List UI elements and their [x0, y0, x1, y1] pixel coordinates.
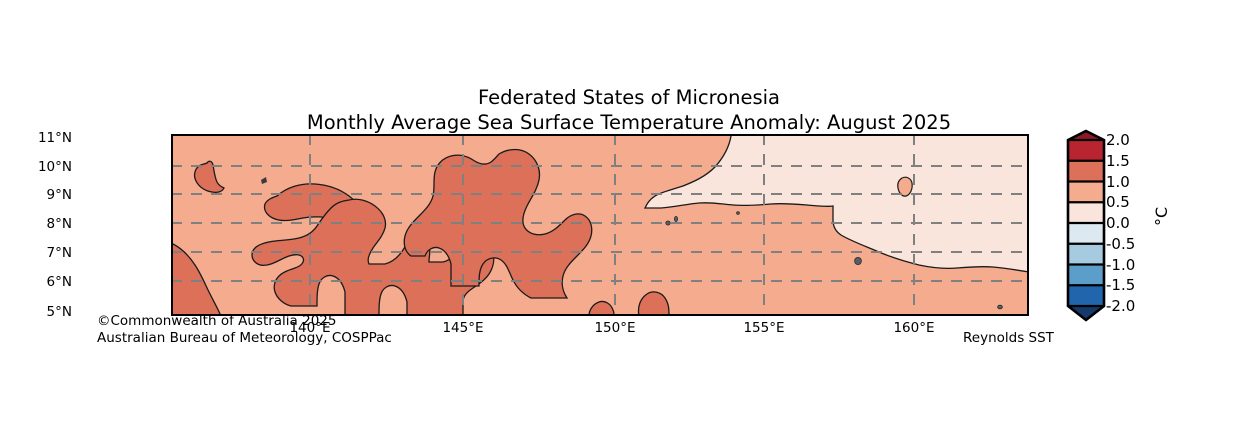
cbar-tick-m1p0: -1.0 [1106, 256, 1135, 274]
cbar-tick-m1p5: -1.5 [1106, 276, 1135, 294]
colorbar-band-0p5-1p0 [1068, 182, 1104, 203]
x-tick-160E: 160°E [893, 320, 934, 336]
colorbar-band-m0p5-0p0 [1068, 223, 1104, 244]
data-source-label: Reynolds SST [963, 330, 1054, 346]
credit-line-1: ©Commonwealth of Australia 2025 [97, 313, 392, 330]
cbar-tick-m0p5: -0.5 [1106, 235, 1135, 253]
colorbar-extend-bottom [1068, 306, 1104, 320]
cbar-tick-m2p0: -2.0 [1106, 297, 1135, 315]
cbar-tick-0p5: 0.5 [1106, 193, 1130, 211]
colorbar-band-1p5-2p0 [1068, 140, 1104, 161]
credit-line-2: Australian Bureau of Meteorology, COSPPa… [97, 330, 392, 347]
colorbar-band-0p0-0p5 [1068, 202, 1104, 223]
x-tick-155E: 155°E [743, 320, 784, 336]
colorbar-band-1p0-1p5 [1068, 161, 1104, 182]
colorbar-band-m1p0-m0p5 [1068, 244, 1104, 265]
x-tick-150E: 150°E [594, 320, 635, 336]
cbar-tick-2p0: 2.0 [1106, 131, 1130, 149]
x-tick-145E: 145°E [442, 320, 483, 336]
colorbar-band-m1p5-m1p0 [1068, 265, 1104, 286]
copyright-credit: ©Commonwealth of Australia 2025 Australi… [97, 313, 392, 346]
colorbar-band-m2p0-m1p5 [1068, 285, 1104, 306]
cbar-tick-1p5: 1.5 [1106, 152, 1130, 170]
colorbar-bands [1068, 131, 1104, 320]
cbar-tick-0p0: 0.0 [1106, 214, 1130, 232]
colorbar-unit-label: °C [1152, 207, 1171, 226]
cbar-tick-1p0: 1.0 [1106, 173, 1130, 191]
sst-anomaly-figure: Federated States of Micronesia Monthly A… [0, 0, 1258, 447]
colorbar-tick-labels: 2.0 1.5 1.0 0.5 0.0 -0.5 -1.0 -1.5 -2.0 [1106, 126, 1166, 326]
